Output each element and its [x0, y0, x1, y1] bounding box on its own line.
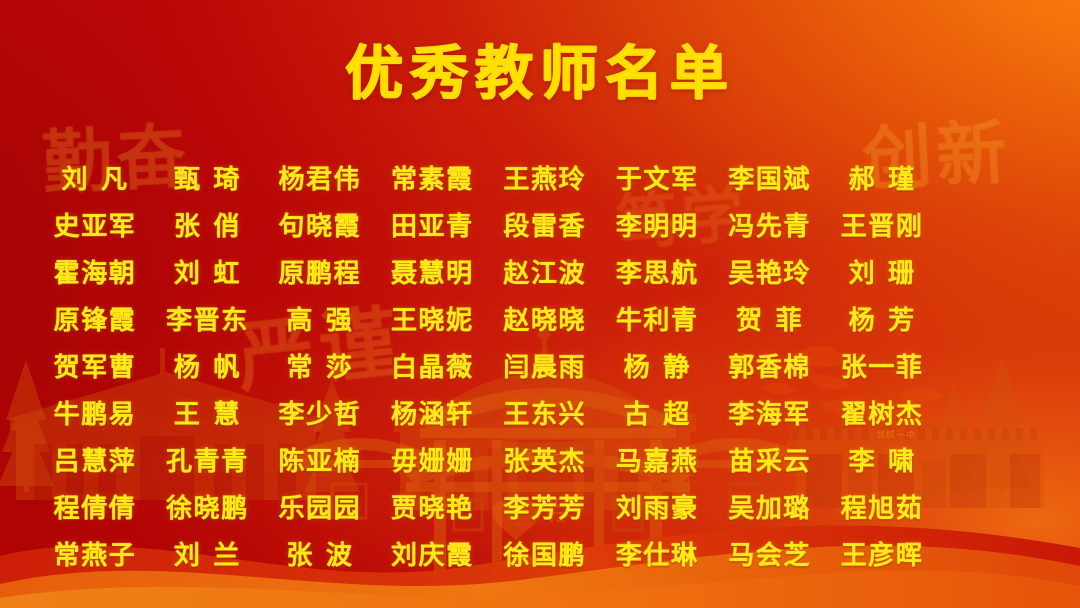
teacher-name: 刘雨豪	[600, 485, 712, 532]
teacher-name: 古超	[600, 391, 712, 438]
teacher-name: 原鹏程	[263, 250, 375, 297]
teacher-name: 史亚军	[38, 203, 150, 250]
teacher-name: 常燕子	[38, 532, 150, 579]
grid-spacer	[938, 532, 1050, 579]
teacher-name: 白晶薇	[375, 344, 487, 391]
teacher-name: 王东兴	[488, 391, 600, 438]
teacher-name: 马会芝	[713, 532, 825, 579]
teacher-name: 马嘉燕	[600, 438, 712, 485]
teacher-name: 吴艳玲	[713, 250, 825, 297]
teacher-name: 闫晨雨	[488, 344, 600, 391]
teacher-name: 王晋刚	[825, 203, 937, 250]
grid-spacer	[938, 344, 1050, 391]
teacher-name: 牛鹏易	[38, 391, 150, 438]
teacher-name: 贺军曹	[38, 344, 150, 391]
teacher-name: 田亚青	[375, 203, 487, 250]
teacher-name: 杨君伟	[263, 156, 375, 203]
teacher-name: 高强	[263, 297, 375, 344]
teacher-name: 原锋霞	[38, 297, 150, 344]
teacher-name: 王晓妮	[375, 297, 487, 344]
grid-spacer	[938, 297, 1050, 344]
teacher-name: 聂慧明	[375, 250, 487, 297]
teacher-name: 杨芳	[825, 297, 937, 344]
teacher-name: 刘珊	[825, 250, 937, 297]
teacher-name: 王燕玲	[488, 156, 600, 203]
teacher-name: 刘虹	[150, 250, 262, 297]
title-container: 优秀教师名单	[0, 44, 1080, 102]
teacher-name: 霍海朝	[38, 250, 150, 297]
teacher-name: 李仕琳	[600, 532, 712, 579]
teacher-name: 杨静	[600, 344, 712, 391]
grid-spacer	[938, 485, 1050, 532]
teacher-name: 陈亚楠	[263, 438, 375, 485]
teacher-name: 杨涵轩	[375, 391, 487, 438]
teacher-name: 程倩倩	[38, 485, 150, 532]
teacher-name: 冯先青	[713, 203, 825, 250]
teacher-name: 苗采云	[713, 438, 825, 485]
teacher-name: 李芳芳	[488, 485, 600, 532]
teacher-name: 李晋东	[150, 297, 262, 344]
teacher-name: 毋姗姗	[375, 438, 487, 485]
teacher-name: 吕慧萍	[38, 438, 150, 485]
teacher-name: 李国斌	[713, 156, 825, 203]
teacher-name: 刘凡	[38, 156, 150, 203]
teacher-name: 句晓霞	[263, 203, 375, 250]
teacher-name: 贺菲	[713, 297, 825, 344]
grid-spacer	[938, 391, 1050, 438]
teacher-name-grid: 刘凡甄琦杨君伟常素霞王燕玲于文军李国斌郝瑾史亚军张俏句晓霞田亚青段雷香李明明冯先…	[38, 156, 1050, 579]
grid-spacer	[938, 203, 1050, 250]
teacher-name: 常素霞	[375, 156, 487, 203]
grid-spacer	[938, 438, 1050, 485]
teacher-name: 甄琦	[150, 156, 262, 203]
teacher-name: 王彦晖	[825, 532, 937, 579]
teacher-name: 程旭茹	[825, 485, 937, 532]
teacher-name: 王慧	[150, 391, 262, 438]
teacher-name: 李海军	[713, 391, 825, 438]
teacher-name: 杨帆	[150, 344, 262, 391]
teacher-name: 郝瑾	[825, 156, 937, 203]
teacher-name: 徐晓鹏	[150, 485, 262, 532]
teacher-name: 段雷香	[488, 203, 600, 250]
teacher-name: 张一菲	[825, 344, 937, 391]
grid-spacer	[938, 250, 1050, 297]
teacher-name: 常莎	[263, 344, 375, 391]
teacher-name: 翟树杰	[825, 391, 937, 438]
teacher-name: 李明明	[600, 203, 712, 250]
teacher-name: 李啸	[825, 438, 937, 485]
teacher-name: 赵晓晓	[488, 297, 600, 344]
outstanding-teachers-poster: 勤奋 创新 严谨 笃学	[0, 0, 1080, 608]
teacher-name: 孔青青	[150, 438, 262, 485]
teacher-name: 吴加璐	[713, 485, 825, 532]
teacher-name: 赵江波	[488, 250, 600, 297]
teacher-name: 刘兰	[150, 532, 262, 579]
page-title: 优秀教师名单	[345, 44, 735, 102]
teacher-name: 李思航	[600, 250, 712, 297]
teacher-name: 乐园园	[263, 485, 375, 532]
teacher-name: 张波	[263, 532, 375, 579]
teacher-name: 牛利青	[600, 297, 712, 344]
teacher-name: 徐国鹏	[488, 532, 600, 579]
teacher-name: 李少哲	[263, 391, 375, 438]
teacher-name: 刘庆霞	[375, 532, 487, 579]
grid-spacer	[938, 156, 1050, 203]
teacher-name: 贾晓艳	[375, 485, 487, 532]
teacher-name: 郭香棉	[713, 344, 825, 391]
teacher-name: 张俏	[150, 203, 262, 250]
teacher-name: 张英杰	[488, 438, 600, 485]
teacher-name: 于文军	[600, 156, 712, 203]
